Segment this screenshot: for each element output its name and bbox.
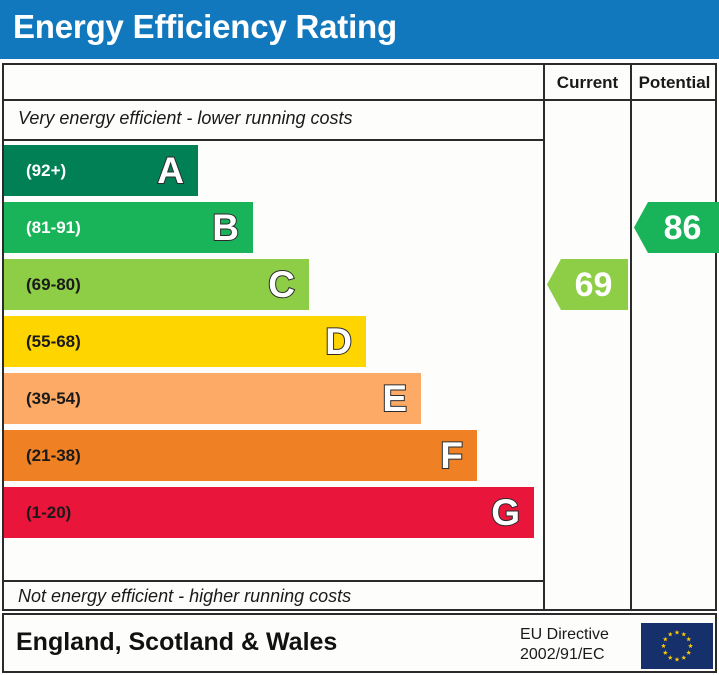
band-bar-f: (21-38)F: [4, 430, 477, 481]
band-range-g: (1-20): [26, 503, 71, 523]
column-header-potential: Potential: [632, 73, 717, 93]
footer-directive-line2: 2002/91/EC: [520, 645, 609, 665]
chart-footer: England, Scotland & Wales EU Directive 2…: [2, 613, 717, 673]
band-range-f: (21-38): [26, 446, 81, 466]
band-letter-b: B: [212, 208, 239, 245]
rating-value-potential: 86: [664, 211, 702, 245]
eu-flag-icon: [641, 623, 713, 669]
footer-directive-label: EU Directive 2002/91/EC: [520, 625, 609, 666]
band-range-c: (69-80): [26, 275, 81, 295]
rating-value-current: 69: [575, 268, 613, 302]
band-bar-a: (92+)A: [4, 145, 198, 196]
caption-very-efficient: Very energy efficient - lower running co…: [18, 108, 353, 129]
band-letter-f: F: [440, 436, 463, 473]
rating-table: Current Potential Very energy efficient …: [2, 63, 717, 611]
band-range-b: (81-91): [26, 218, 81, 238]
column-divider-current: [543, 65, 545, 609]
energy-efficiency-rating-chart: Energy Efficiency Rating Current Potenti…: [0, 0, 719, 675]
chart-header-banner: Energy Efficiency Rating: [0, 0, 719, 59]
band-letter-a: A: [157, 151, 184, 188]
caption-top-divider: [4, 139, 543, 141]
column-divider-potential: [630, 65, 632, 609]
table-header-divider: [4, 99, 715, 101]
column-header-current: Current: [545, 73, 630, 93]
band-letter-g: G: [491, 493, 520, 530]
caption-bottom-divider: [4, 580, 543, 582]
band-bar-c: (69-80)C: [4, 259, 309, 310]
band-bar-e: (39-54)E: [4, 373, 421, 424]
band-range-e: (39-54): [26, 389, 81, 409]
band-range-a: (92+): [26, 161, 66, 181]
rating-badge-potential: 86: [634, 202, 719, 253]
band-bar-b: (81-91)B: [4, 202, 253, 253]
band-bar-d: (55-68)D: [4, 316, 366, 367]
footer-directive-line1: EU Directive: [520, 625, 609, 645]
band-bar-g: (1-20)G: [4, 487, 534, 538]
rating-badge-current: 69: [547, 259, 628, 310]
caption-not-efficient: Not energy efficient - higher running co…: [18, 586, 351, 607]
band-letter-c: C: [268, 265, 295, 302]
band-letter-e: E: [382, 379, 407, 416]
page-title: Energy Efficiency Rating: [13, 8, 397, 46]
band-letter-d: D: [325, 322, 352, 359]
footer-region-label: England, Scotland & Wales: [16, 628, 337, 657]
band-range-d: (55-68): [26, 332, 81, 352]
